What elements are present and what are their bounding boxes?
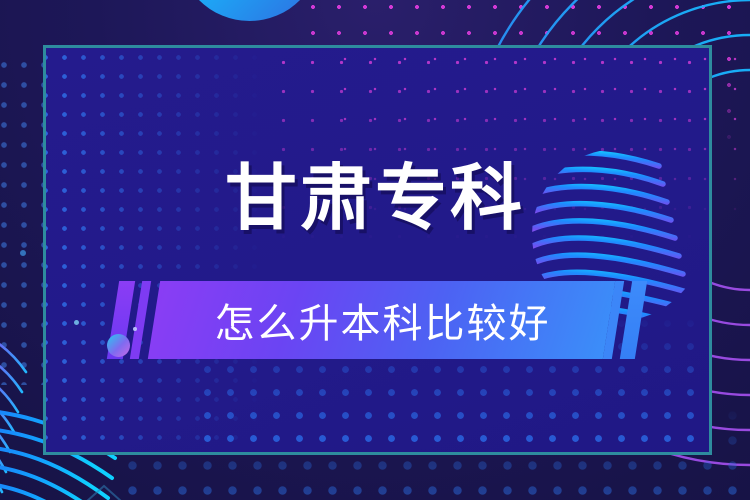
poster-banner: 甘肃专科 怎么升本科比较好: [0, 0, 750, 500]
dot-accent-left: [20, 250, 26, 256]
dot-accent-small: [74, 320, 79, 325]
page-subtitle: 怎么升本科比较好: [110, 281, 643, 359]
subtitle-banner: 怎么升本科比较好: [110, 281, 643, 359]
page-title: 甘肃专科: [0, 162, 750, 234]
dot-accent-tiny: [133, 327, 137, 331]
hexagon-outline-decoration: [44, 452, 164, 500]
mini-gradient-sphere-icon: [107, 334, 130, 357]
